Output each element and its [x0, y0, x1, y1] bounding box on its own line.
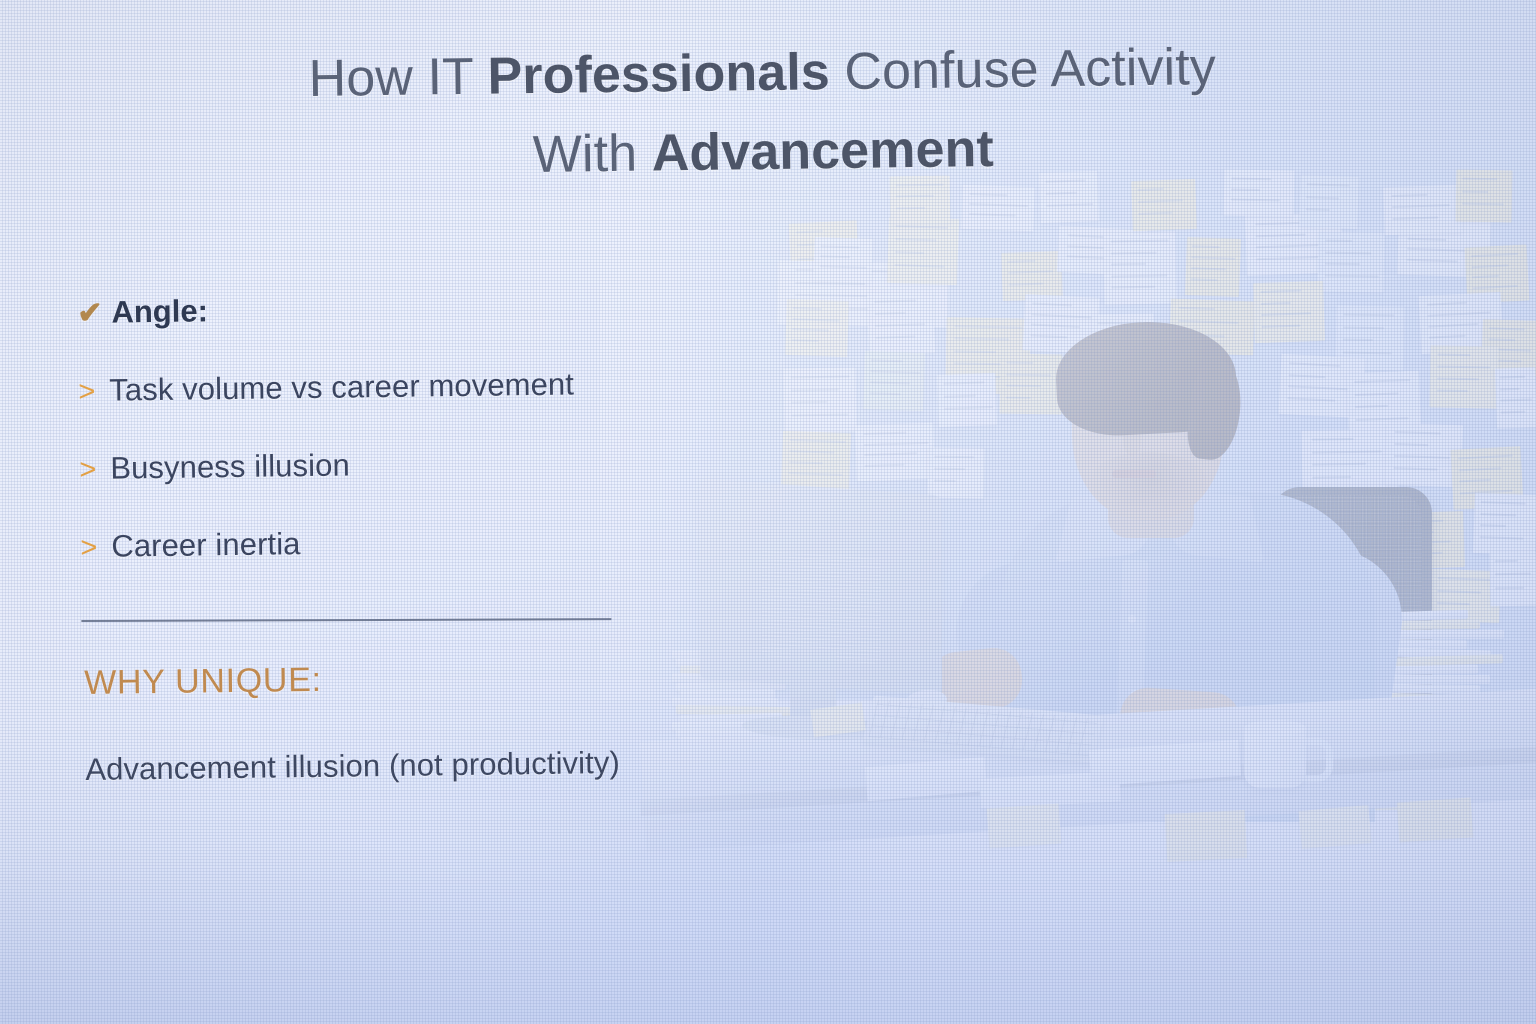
bullet-item: > Career inertia	[80, 520, 800, 565]
title-line2: With Advancement	[0, 103, 1532, 202]
bullet-text: Career inertia	[111, 526, 301, 564]
bullet-item: > Task volume vs career movement	[78, 364, 798, 409]
bullet-text: Task volume vs career movement	[109, 367, 574, 409]
slide-title: How IT Professionals Confuse Activity Wi…	[0, 24, 1532, 202]
bullet-item: > Busyness illusion	[79, 442, 799, 487]
title-line1: How IT Professionals Confuse Activity	[308, 38, 1216, 108]
angle-label: Angle:	[111, 293, 208, 330]
text-layer: How IT Professionals Confuse Activity Wi…	[0, 0, 1536, 1024]
chevron-right-icon: >	[78, 378, 95, 407]
why-unique-text: Advancement illusion (not productivity)	[85, 745, 620, 788]
chevron-right-icon: >	[79, 456, 96, 485]
bullet-text: Busyness illusion	[110, 447, 350, 486]
bullet-section: ✔ Angle: > Task volume vs career movemen…	[77, 286, 800, 565]
check-icon: ✔	[77, 299, 103, 329]
title-emphasis-advancement: Advancement	[651, 120, 994, 182]
title-emphasis-professionals: Professionals	[487, 43, 830, 105]
angle-heading: ✔ Angle:	[77, 286, 797, 331]
slide-root: How IT Professionals Confuse Activity Wi…	[0, 0, 1536, 1024]
why-unique-heading: WHY UNIQUE:	[84, 661, 322, 703]
section-divider	[81, 618, 611, 622]
chevron-right-icon: >	[80, 534, 97, 563]
